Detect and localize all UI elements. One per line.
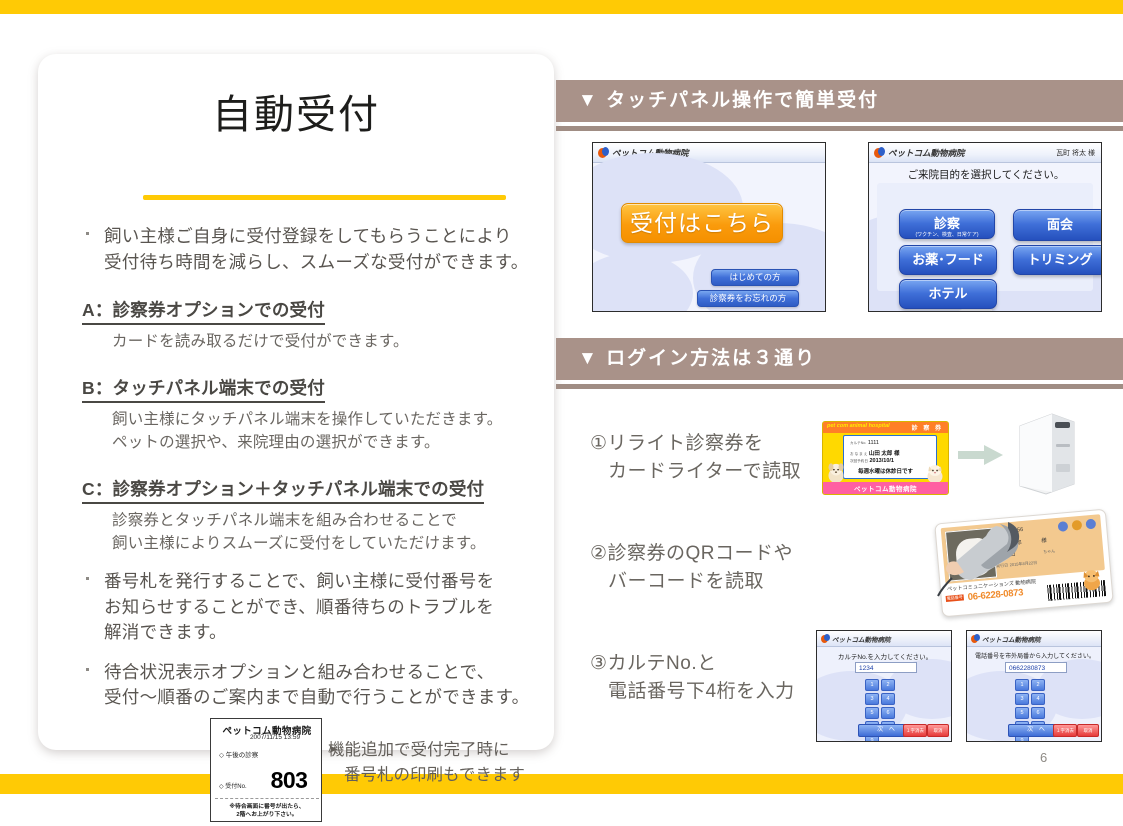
login-method-2-line1: ②診察券のQRコードや <box>590 543 793 564</box>
key-1[interactable]: 1 <box>1015 679 1029 691</box>
number-ticket: ペットコム動物病院 2007/11/15 13:59 ◇ 午後の診察 ◇ 受付N… <box>210 718 322 822</box>
keypad1-delete-button[interactable]: １字消去 <box>903 724 927 737</box>
section-header-login: ▼ ログイン方法は３通り <box>556 338 1123 380</box>
petcom-logo-icon <box>821 634 830 643</box>
ticket-callout-line2: 番号札の印刷もできます <box>344 763 558 788</box>
bottom-accent-bar <box>0 774 1123 794</box>
panel-b-user-name: 瓦町 将太 様 <box>1056 148 1095 158</box>
login-method-2-line2: バーコードを読取 <box>608 568 793 596</box>
left-content-card: 自動受付 飼い主様ご自身に受付登録をしてもらうことにより 受付待ち時間を減らし、… <box>38 54 554 750</box>
option-a-body: カードを読み取るだけで受付ができます。 <box>112 330 536 353</box>
login-method-2: ②診察券のQRコードや バーコードを読取 <box>590 540 793 596</box>
section-header-underline <box>556 384 1123 389</box>
panel-b-body: ご来院目的を選択してください。 診察 (ワクチン、検査、日常ケア) 面会 お薬･… <box>869 163 1101 312</box>
touchpanel-screen-purpose[interactable]: ペットコム動物病院 瓦町 将太 様 ご来院目的を選択してください。 診察 (ワク… <box>868 142 1102 312</box>
page-title: 自動受付 <box>38 82 554 140</box>
bullet-intro: 飼い主様ご自身に受付登録をしてもらうことにより 受付待ち時間を減らし、スムーズな… <box>66 224 536 275</box>
option-c: C：診察券オプション＋タッチパネル端末での受付 診察券とタッチパネル端末を組み合… <box>66 464 536 555</box>
key-6[interactable]: 6 <box>881 707 895 719</box>
panel-b-back-button[interactable]: ◀ 前へ <box>875 311 925 312</box>
login-method-1-text: ①リライト診察券を カードライターで読取 <box>590 430 801 486</box>
rewrite-card-header: pet com animal hospital 診 察 券 <box>823 422 948 433</box>
login-method-3-text: ③カルテNo.と 電話番号下4桁を入力 <box>590 650 795 706</box>
keypad2-cancel-button[interactable]: 取消 <box>1077 724 1099 737</box>
forgot-card-button[interactable]: 診察券をお忘れの方 <box>697 290 799 307</box>
keypad1-cancel-button[interactable]: 取消 <box>927 724 949 737</box>
option-b: B：タッチパネル端末での受付 飼い主様にタッチパネル端末を操作していただきます。… <box>66 363 536 454</box>
purpose-button-okusuri-food[interactable]: お薬･フード <box>899 245 997 275</box>
option-c-heading: C：診察券オプション＋タッチパネル端末での受付 <box>82 476 484 504</box>
purpose-button-hotel[interactable]: ホテル <box>899 279 997 309</box>
left-body-text: 飼い主様ご自身に受付登録をしてもらうことにより 受付待ち時間を減らし、スムーズな… <box>66 224 536 711</box>
decorative-blob <box>592 253 693 312</box>
ticket-dashed-divider <box>215 798 319 799</box>
cat-illustration-icon <box>925 462 945 484</box>
login-method-3-line1: ③カルテNo.と <box>590 653 717 674</box>
panel-b-button-area: 診察 (ワクチン、検査、日常ケア) 面会 お薬･フード トリミング ホテル <box>877 183 1093 291</box>
key-4[interactable]: 4 <box>1031 693 1045 705</box>
keypad2-titlebar: ペットコム動物病院 <box>967 631 1101 647</box>
rewrite-card-footer-text: ペットコム動物病院 <box>823 483 948 493</box>
key-3[interactable]: 3 <box>865 693 879 705</box>
key-5[interactable]: 5 <box>865 707 879 719</box>
key-2[interactable]: 2 <box>881 679 895 691</box>
bullet-waiting-display-line1: 待合状況表示オプションと組み合わせることで、 <box>104 660 536 686</box>
ticket-note-line1: ※待合画面に番号が出たら、 <box>211 803 322 811</box>
option-c-body: 診察券とタッチパネル端末を組み合わせることで 飼い主様によりスムーズに受付をして… <box>112 509 536 555</box>
option-b-body: 飼い主様にタッチパネル端末を操作していただきます。 ペットの選択や、来院理由の選… <box>112 408 536 454</box>
keypad2-instruction: 電話番号を市外局番から入力してください。 <box>967 651 1102 660</box>
rewrite-card-label: 診 察 券 <box>912 423 943 432</box>
option-b-line2: ペットの選択や、来院理由の選択ができます。 <box>112 431 536 454</box>
ticket-note-line2: 2階へお上がり下さい。 <box>211 811 322 819</box>
rewrite-card-brand: pet com animal hospital <box>827 423 890 429</box>
login-method-3: ③カルテNo.と 電話番号下4桁を入力 <box>590 650 795 706</box>
petcom-logo-icon <box>874 147 885 159</box>
login-method-1-line1: ①リライト診察券を <box>590 433 764 454</box>
arrow-right-icon <box>958 444 1004 466</box>
ticket-callout-text: 機能追加で受付完了時に 番号札の印刷もできます <box>328 738 558 788</box>
touchpanel-screen-welcome[interactable]: ペットコム動物病院 受付はこちら はじめての方 診察券をお忘れの方 <box>592 142 826 312</box>
rewrite-card-footer: ペットコム動物病院 <box>823 482 948 494</box>
pawprint-stamps-icon <box>1056 517 1097 534</box>
option-a-line1: カードを読み取るだけで受付ができます。 <box>112 330 536 353</box>
key-4[interactable]: 4 <box>881 693 895 705</box>
keypad1-instruction: カルテNo.を入力してください。 <box>817 651 952 661</box>
bullet-waiting-display-line2: 受付～順番のご案内まで自動で行うことができます。 <box>104 685 536 711</box>
purpose-button-shinsatsu-sub: (ワクチン、検査、日常ケア) <box>900 231 994 238</box>
rewrite-card-notice: 毎週水曜は休診日です <box>858 467 913 475</box>
dog-illustration-icon <box>826 462 846 484</box>
purpose-button-shinsatsu-label: 診察 <box>934 216 960 231</box>
ticket-datetime: 2007/11/15 13:59 <box>211 734 322 741</box>
option-a-heading: A：診察券オプションでの受付 <box>82 297 325 325</box>
panel-b-hospital-name: ペットコム動物病院 <box>888 147 965 159</box>
card-writer-device-illustration <box>1012 408 1076 496</box>
panel-a-body: 受付はこちら はじめての方 診察券をお忘れの方 <box>593 163 825 312</box>
barcode-scanner-illustration <box>900 520 1020 600</box>
key-2[interactable]: 2 <box>1031 679 1045 691</box>
keypad-screen-chart-no[interactable]: ペットコム動物病院 カルテNo.を入力してください。 1234 1 2 3 4 … <box>816 630 952 742</box>
key-6[interactable]: 6 <box>1031 707 1045 719</box>
page-number: 6 <box>1040 750 1047 765</box>
rewrite-card-name: お な ま え 山田 太郎 様 <box>850 449 899 457</box>
login-method-2-text: ②診察券のQRコードや バーコードを読取 <box>590 540 793 596</box>
bullet-intro-line1: 飼い主様ご自身に受付登録をしてもらうことにより <box>104 224 536 250</box>
keypad2-delete-button[interactable]: １字消去 <box>1053 724 1077 737</box>
section-header-touchpanel: ▼ タッチパネル操作で簡単受付 <box>556 80 1123 122</box>
option-c-line1: 診察券とタッチパネル端末を組み合わせることで <box>112 509 536 532</box>
keypad-screen-phone-no[interactable]: ペットコム動物病院 電話番号を市外局番から入力してください。 066228087… <box>966 630 1102 742</box>
key-1[interactable]: 1 <box>865 679 879 691</box>
petcom-logo-icon <box>971 634 980 643</box>
ticket-session-label: ◇ 午後の診察 <box>219 749 258 759</box>
rewrite-card-no: カルテNo. 1111 <box>850 440 879 446</box>
keypad2-hospital-name: ペットコム動物病院 <box>982 634 1041 644</box>
petcom-logo-icon <box>598 147 609 159</box>
option-a: A：診察券オプションでの受付 カードを読み取るだけで受付ができます。 <box>66 285 536 353</box>
bullet-dot-icon <box>86 577 89 580</box>
purpose-button-trimming[interactable]: トリミング <box>1013 245 1102 275</box>
rewrite-membership-card: pet com animal hospital 診 察 券 カルテNo. 111… <box>822 421 949 495</box>
panel-b-cancel-button[interactable]: 取消 <box>1057 311 1095 312</box>
ticket-illustration-zone: ペットコム動物病院 2007/11/15 13:59 ◇ 午後の診察 ◇ 受付N… <box>180 716 560 826</box>
bullet-number-tag: 番号札を発行することで、飼い主様に受付番号を お知らせすることができ、順番待ちの… <box>66 569 536 646</box>
panel-b-titlebar: ペットコム動物病院 瓦町 将太 様 <box>869 143 1101 163</box>
bullet-dot-icon <box>86 232 89 235</box>
login-method-1-line2: カードライターで読取 <box>608 458 801 486</box>
rewrite-card-inner: カルテNo. 1111 お な ま え 山田 太郎 様 次回予約日 2013/1… <box>843 435 937 479</box>
phone-no-input[interactable]: 0662280873 <box>1005 662 1067 673</box>
keypad1-titlebar: ペットコム動物病院 <box>817 631 951 647</box>
bullet-intro-line2: 受付待ち時間を減らし、スムーズな受付ができます。 <box>104 250 536 276</box>
ticket-number-value: 803 <box>257 767 321 794</box>
bullet-number-tag-line2: お知らせすることができ、順番待ちのトラブルを <box>104 595 536 621</box>
purpose-button-shinsatsu[interactable]: 診察 (ワクチン、検査、日常ケア) <box>899 209 995 239</box>
bullet-dot-icon <box>86 668 89 671</box>
bullet-number-tag-line1: 番号札を発行することで、飼い主様に受付番号を <box>104 569 536 595</box>
section-header-underline <box>556 126 1123 131</box>
option-b-heading: B：タッチパネル端末での受付 <box>82 375 325 403</box>
cat-mascot-icon <box>1080 566 1104 592</box>
title-underline <box>143 195 506 200</box>
panel-b-instruction: ご来院目的を選択してください。 <box>869 167 1102 182</box>
reception-here-button[interactable]: 受付はこちら <box>621 203 783 243</box>
ticket-note: ※待合画面に番号が出たら、 2階へお上がり下さい。 <box>211 803 322 819</box>
key-5[interactable]: 5 <box>1015 707 1029 719</box>
chart-no-input[interactable]: 1234 <box>855 662 917 673</box>
first-time-button[interactable]: はじめての方 <box>711 269 799 286</box>
option-c-line2: 飼い主様によりスムーズに受付をしていただけます。 <box>112 532 536 555</box>
purpose-button-menkai[interactable]: 面会 <box>1013 209 1102 241</box>
keypad1-hospital-name: ペットコム動物病院 <box>832 634 891 644</box>
rewrite-card-date: 次回予約日 2013/10/1 <box>850 458 894 464</box>
ticket-callout-line1: 機能追加で受付完了時に <box>328 738 558 763</box>
login-method-3-line2: 電話番号下4桁を入力 <box>608 678 795 706</box>
bullet-waiting-display: 待合状況表示オプションと組み合わせることで、 受付～順番のご案内まで自動で行うこ… <box>66 660 536 711</box>
option-b-line1: 飼い主様にタッチパネル端末を操作していただきます。 <box>112 408 536 431</box>
key-3[interactable]: 3 <box>1015 693 1029 705</box>
ticket-number-label: ◇ 受付No. <box>219 781 247 790</box>
bullet-number-tag-line3: 解消できます。 <box>104 620 536 646</box>
top-accent-bar <box>0 0 1123 14</box>
login-method-1: ①リライト診察券を カードライターで読取 <box>590 430 801 486</box>
